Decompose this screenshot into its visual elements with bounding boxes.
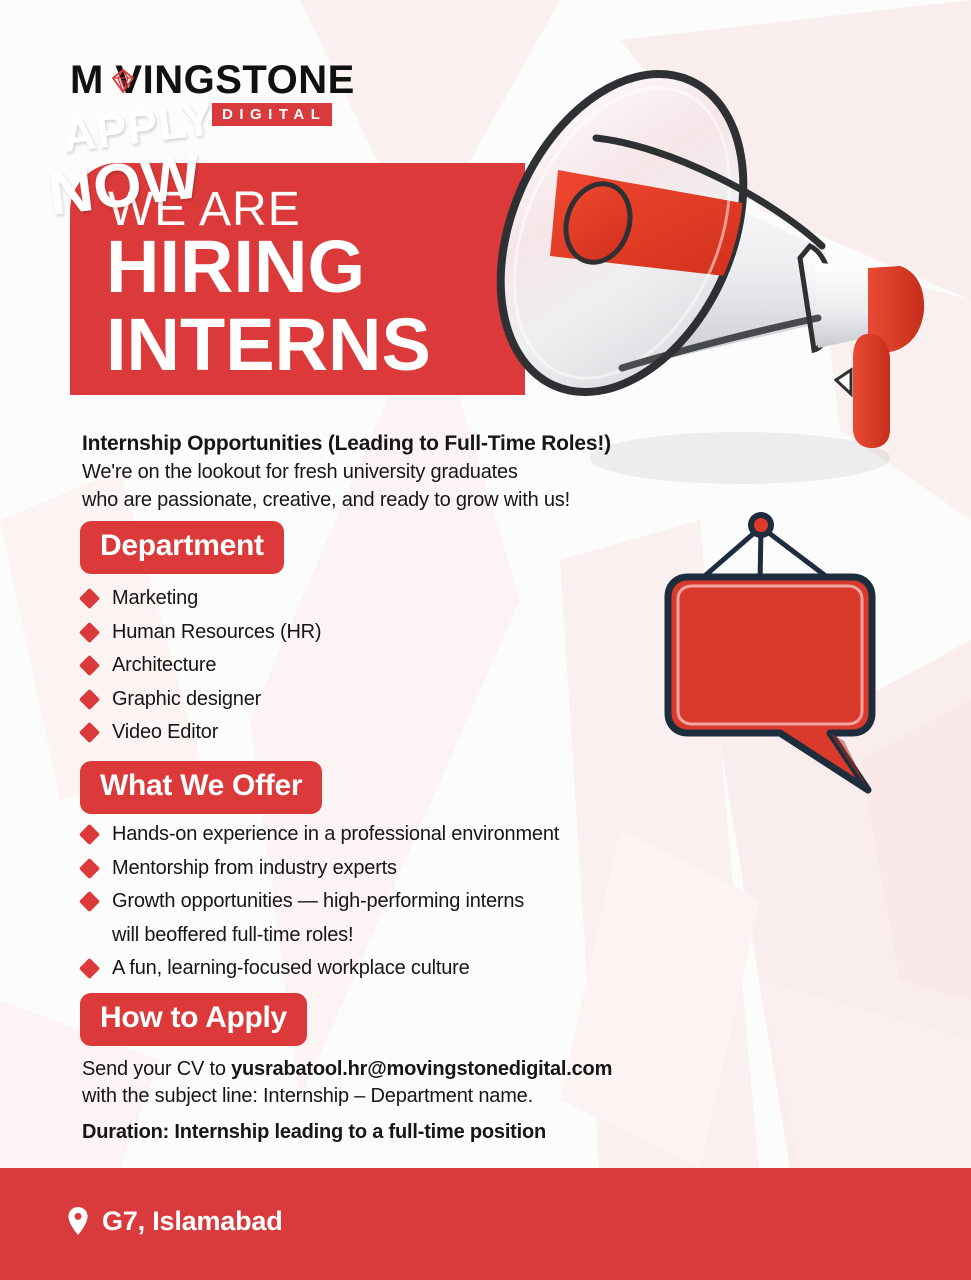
list-item-label: Growth opportunities — high-performing i… (112, 890, 524, 912)
footer-location-group: G7, Islamabad (68, 1206, 282, 1236)
hiring-poster: M VINGSTONE DIGITAL WE ARE HIRING INTERN… (0, 0, 971, 1280)
headline-hiring: HIRING (106, 226, 365, 308)
section-heading-department: Department (80, 521, 284, 574)
apply-email-line: Send your CV to yusrabatool.hr@movingsto… (82, 1056, 782, 1083)
diamond-bullet-icon (79, 891, 100, 912)
list-item: Video Editor (80, 716, 720, 750)
list-item-label: Marketing (112, 587, 198, 609)
list-item: Hands-on experience in a professional en… (80, 818, 720, 852)
apply-body: Send your CV to yusrabatool.hr@movingsto… (82, 1056, 782, 1146)
section-heading-apply: How to Apply (80, 993, 307, 1046)
diamond-bullet-icon (79, 588, 100, 609)
diamond-bullet-icon (79, 655, 100, 676)
section-heading-offer: What We Offer (80, 761, 322, 814)
department-list: Marketing Human Resources (HR) Architect… (80, 582, 720, 750)
apply-line-prefix: Send your CV to (82, 1058, 231, 1080)
diamond-bullet-icon (79, 824, 100, 845)
apply-email[interactable]: yusrabatool.hr@movingstonedigital.com (231, 1058, 612, 1080)
offer-list: Hands-on experience in a professional en… (80, 818, 720, 986)
headline-interns: INTERNS (106, 304, 431, 386)
intro-line-2: who are passionate, creative, and ready … (82, 486, 682, 514)
list-item-label: Architecture (112, 654, 216, 676)
list-item-label: Graphic designer (112, 688, 261, 710)
list-item: Growth opportunities — high-performing i… (80, 885, 720, 919)
list-item-label: will beoffered full-time roles! (112, 924, 353, 946)
list-item: Architecture (80, 649, 720, 683)
list-item: Mentorship from industry experts (80, 852, 720, 886)
list-item-label: Video Editor (112, 721, 218, 743)
list-item: A fun, learning-focused workplace cultur… (80, 952, 720, 986)
diamond-bullet-icon (79, 958, 100, 979)
list-item-label: A fun, learning-focused workplace cultur… (112, 957, 470, 979)
intro-block: Internship Opportunities (Leading to Ful… (82, 430, 682, 514)
list-item-continuation: will beoffered full-time roles! (80, 919, 720, 953)
location-pin-icon (68, 1207, 88, 1235)
list-item-label: Hands-on experience in a professional en… (112, 823, 559, 845)
intro-title: Internship Opportunities (Leading to Ful… (82, 430, 682, 458)
list-item: Graphic designer (80, 683, 720, 717)
diamond-bullet-icon (79, 857, 100, 878)
intro-line-1: We're on the lookout for fresh universit… (82, 458, 682, 486)
apply-subject-line: with the subject line: Internship – Depa… (82, 1083, 782, 1110)
diamond-bullet-icon (79, 621, 100, 642)
apply-duration: Duration: Internship leading to a full-t… (82, 1119, 782, 1146)
list-item: Human Resources (HR) (80, 616, 720, 650)
gem-diamond-icon (110, 68, 136, 94)
list-item-label: Human Resources (HR) (112, 621, 321, 643)
footer-location-text: G7, Islamabad (102, 1206, 282, 1236)
diamond-bullet-icon (79, 722, 100, 743)
list-item-label: Mentorship from industry experts (112, 857, 397, 879)
diamond-bullet-icon (79, 688, 100, 709)
logo-digital-badge: DIGITAL (212, 103, 332, 126)
list-item: Marketing (80, 582, 720, 616)
footer-bar: G7, Islamabad (0, 1168, 971, 1280)
